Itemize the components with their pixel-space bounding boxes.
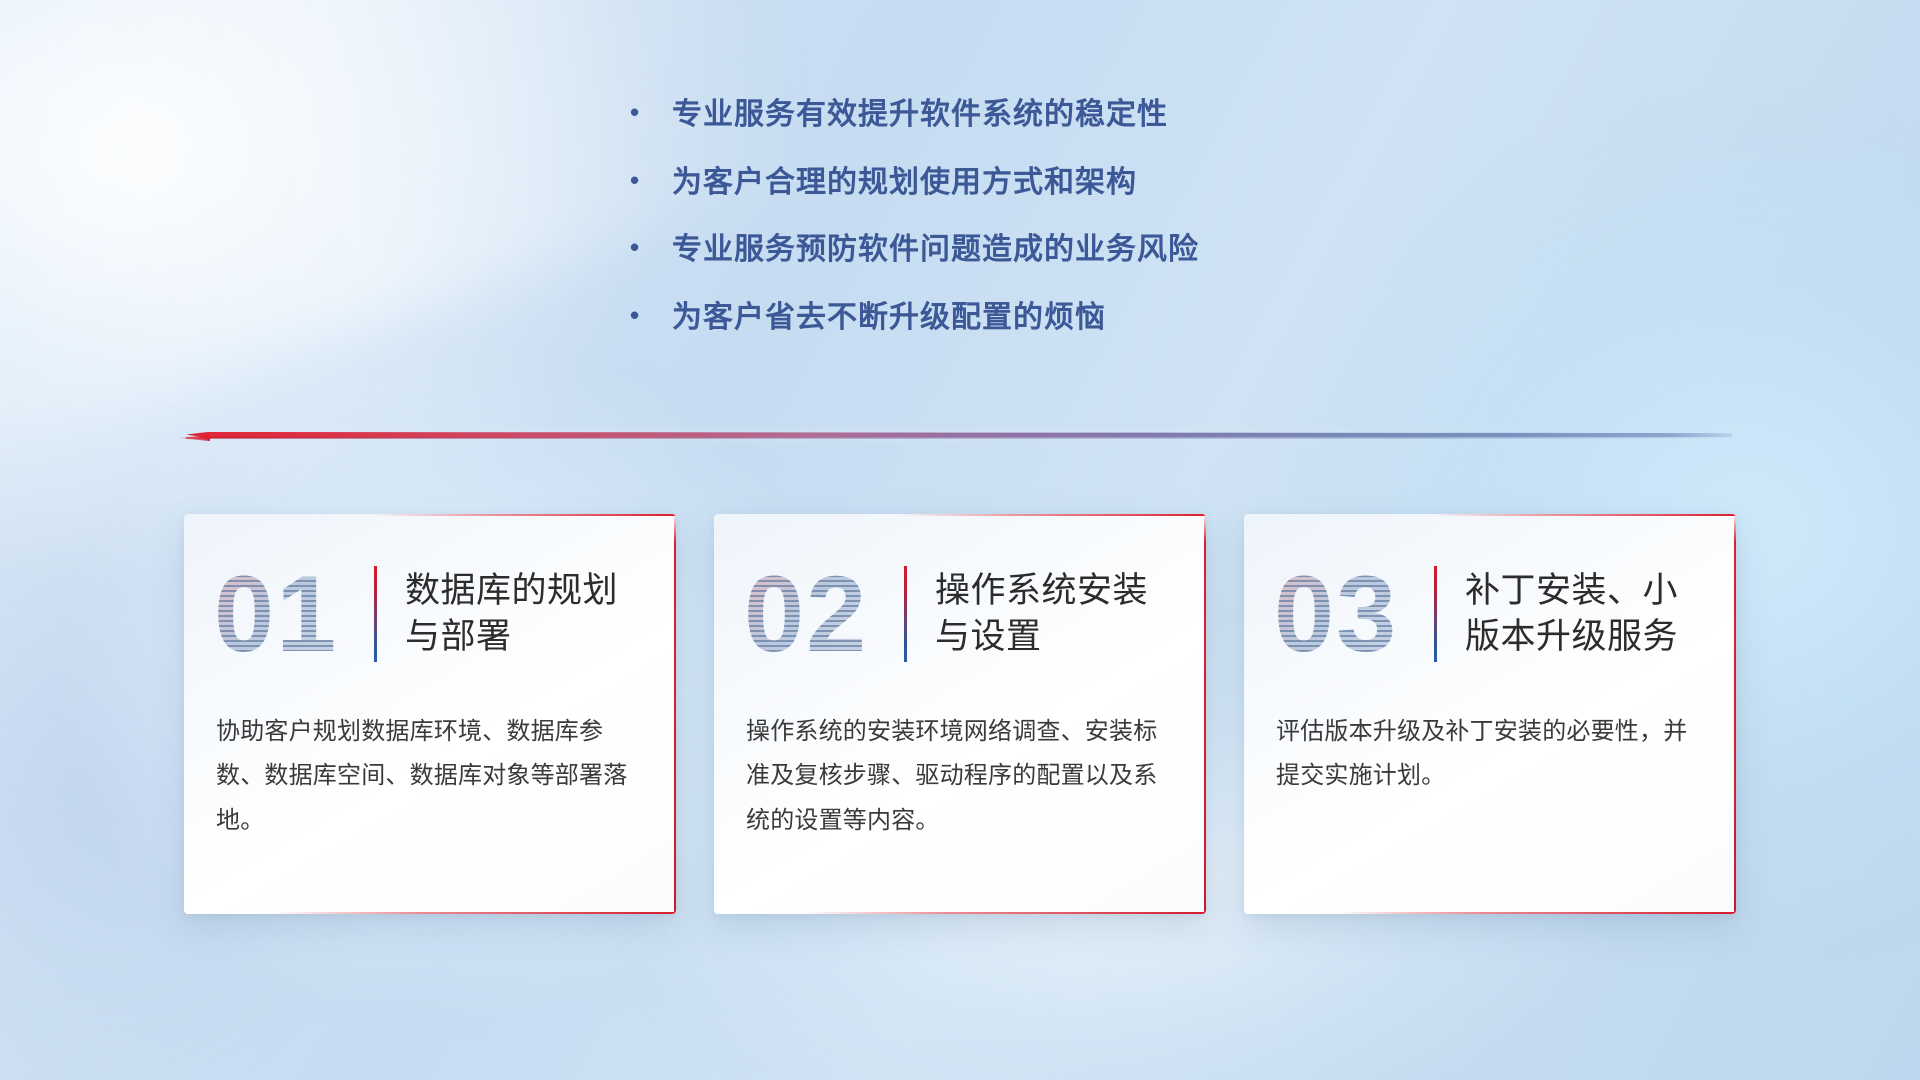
list-item: • 为客户合理的规划使用方式和架构	[630, 164, 1290, 202]
bullet-dot-icon: •	[630, 99, 672, 125]
card-number: 01	[214, 560, 368, 668]
card-accent-top	[1431, 514, 1736, 516]
bullet-dot-icon: •	[630, 234, 672, 260]
card-header: 01 数据库的规划与部署	[214, 546, 650, 682]
benefits-bullet-list: • 专业服务有效提升软件系统的稳定性 • 为客户合理的规划使用方式和架构 • 专…	[0, 96, 1920, 336]
card-accent-top	[371, 514, 676, 516]
card-accent-bottom	[1333, 912, 1736, 914]
card-divider-line	[1434, 566, 1437, 662]
card-number: 02	[744, 560, 898, 668]
service-card-group: 01 数据库的规划与部署 协助客户规划数据库环境、数据库参数、数据库空间、数据库…	[184, 514, 1736, 914]
list-item: • 专业服务预防软件问题造成的业务风险	[630, 231, 1290, 269]
bullet-text: 为客户省去不断升级配置的烦恼	[672, 299, 1290, 337]
service-card-02[interactable]: 02 操作系统安装与设置 操作系统的安装环境网络调查、安装标准及复核步骤、驱动程…	[714, 514, 1206, 914]
bullet-text: 为客户合理的规划使用方式和架构	[672, 164, 1290, 202]
card-header: 02 操作系统安装与设置	[744, 546, 1180, 682]
card-description: 协助客户规划数据库环境、数据库参数、数据库空间、数据库对象等部署落地。	[216, 710, 642, 843]
service-card-01[interactable]: 01 数据库的规划与部署 协助客户规划数据库环境、数据库参数、数据库空间、数据库…	[184, 514, 676, 914]
card-description: 操作系统的安装环境网络调查、安装标准及复核步骤、驱动程序的配置以及系统的设置等内…	[746, 710, 1172, 843]
card-title: 数据库的规划与部署	[405, 568, 650, 660]
service-card-03[interactable]: 03 补丁安装、小版本升级服务 评估版本升级及补丁安装的必要性，并提交实施计划。	[1244, 514, 1736, 914]
list-item: • 为客户省去不断升级配置的烦恼	[630, 299, 1290, 337]
card-divider-line	[374, 566, 377, 662]
slide-canvas: • 专业服务有效提升软件系统的稳定性 • 为客户合理的规划使用方式和架构 • 专…	[0, 0, 1920, 1080]
card-divider-line	[904, 566, 907, 662]
bullet-dot-icon: •	[630, 302, 672, 328]
card-number: 03	[1274, 560, 1428, 668]
card-description: 评估版本升级及补丁安装的必要性，并提交实施计划。	[1276, 710, 1702, 799]
card-accent-top	[901, 514, 1206, 516]
divider-sheen	[186, 430, 1732, 440]
card-accent-bottom	[803, 912, 1206, 914]
card-accent-bottom	[273, 912, 676, 914]
bullet-dot-icon: •	[630, 167, 672, 193]
card-accent-right	[1734, 514, 1736, 914]
card-accent-right	[674, 514, 676, 914]
card-accent-right	[1204, 514, 1206, 914]
card-title: 补丁安装、小版本升级服务	[1465, 568, 1710, 660]
list-item: • 专业服务有效提升软件系统的稳定性	[630, 96, 1290, 134]
card-header: 03 补丁安装、小版本升级服务	[1274, 546, 1710, 682]
bullet-text: 专业服务预防软件问题造成的业务风险	[672, 231, 1290, 269]
bullet-text: 专业服务有效提升软件系统的稳定性	[672, 96, 1290, 134]
section-divider	[186, 424, 1732, 446]
card-title: 操作系统安装与设置	[935, 568, 1180, 660]
